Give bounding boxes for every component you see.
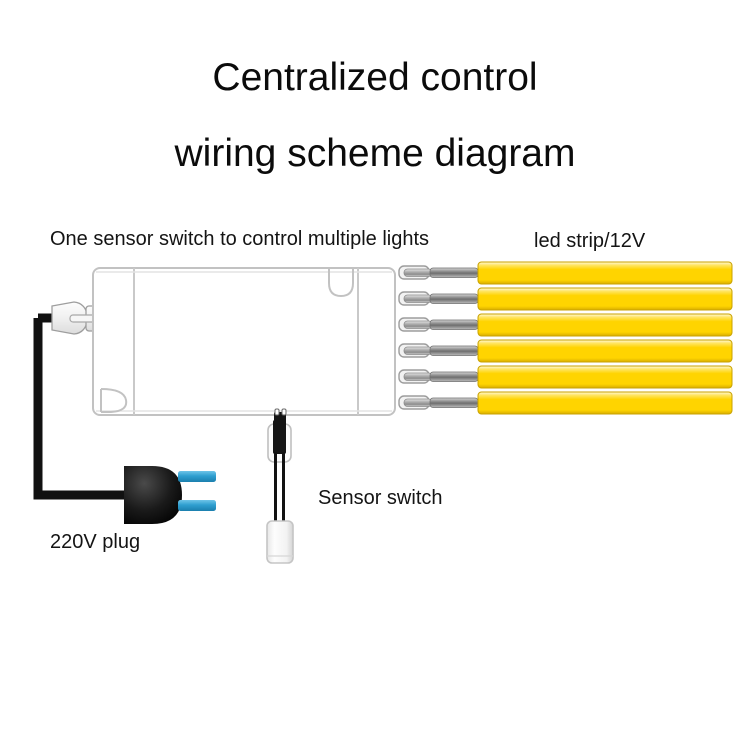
wiring-diagram-artwork [0,0,750,750]
transformer-voltage-text: 12V/24V [140,310,360,334]
mains-plug [124,466,216,524]
label-led-strip: led strip/12V [534,230,645,253]
label-sensor-switch: Sensor switch [318,487,443,510]
led-strip-row [404,392,732,414]
diagram-canvas: Centralized control wiring scheme diagra… [0,0,750,750]
led-strip-row [404,340,732,362]
sensor-switch-assembly [267,420,293,563]
led-strip-row [404,262,732,284]
plug-pin-1 [178,471,216,482]
transformer-housing [93,268,395,415]
output-terminals [399,266,429,409]
led-strip-row [404,288,732,310]
transformer-type-text: transformer [140,353,360,377]
label-220v-plug: 220V plug [50,531,140,554]
dc-barrel-plug [52,302,120,334]
page-title-line-2: wiring scheme diagram [0,132,750,176]
sensor-lead-from-transformer [274,409,286,424]
mains-cable [38,318,132,495]
led-strip-row [404,366,732,388]
page-title-line-1: Centralized control [0,56,750,100]
plug-pin-2 [178,500,216,511]
label-multiple-lights: One sensor switch to control multiple li… [50,228,429,251]
led-strip-group [404,262,732,414]
sensor-body [267,521,293,563]
led-strip-row [404,314,732,336]
